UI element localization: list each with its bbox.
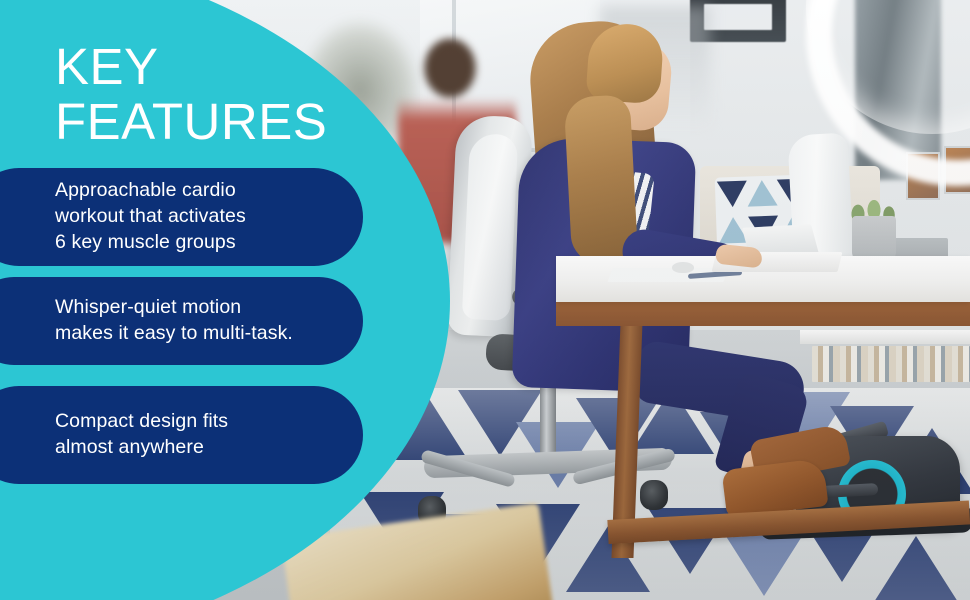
feature-pill-2-text: Whisper-quiet motion makes it easy to mu… [55, 295, 293, 347]
page-title: KEY FEATURES [55, 40, 385, 149]
shelf-board [800, 330, 970, 344]
computer-mouse [672, 262, 694, 273]
feature-pill-2: Whisper-quiet motion makes it easy to mu… [0, 277, 363, 365]
feature-pill-1-text: Approachable cardio workout that activat… [55, 178, 246, 256]
office-chair-cushion [462, 133, 518, 321]
chair-caster [640, 480, 668, 510]
books [812, 346, 970, 382]
feature-pill-3: Compact design fits almost anywhere [0, 386, 363, 484]
feature-pill-3-text: Compact design fits almost anywhere [55, 409, 228, 461]
content-layer: KEY FEATURES Approachable cardio workout… [0, 0, 470, 600]
key-features-banner: KEY FEATURES Approachable cardio workout… [0, 0, 970, 600]
desk-apron [556, 300, 970, 326]
feature-pill-1: Approachable cardio workout that activat… [0, 168, 363, 266]
